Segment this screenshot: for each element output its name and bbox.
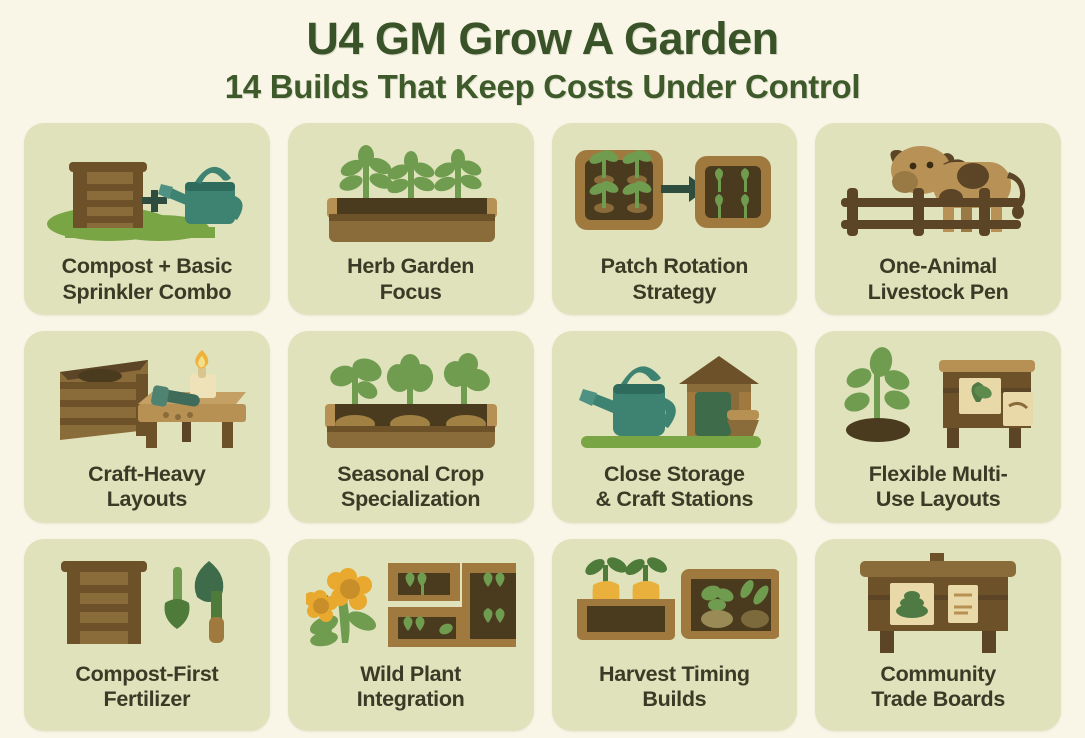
card-wild-plant-integration[interactable]: Wild Plant Integration	[288, 539, 534, 731]
card-craft-heavy-layouts[interactable]: Craft-Heavy Layouts	[24, 331, 270, 523]
card-label: Craft-Heavy Layouts	[88, 462, 205, 513]
compost-bin-trowels-icon	[32, 551, 262, 655]
card-one-animal-livestock-pen[interactable]: One-Animal Livestock Pen	[815, 123, 1061, 315]
card-label: Patch Rotation Strategy	[601, 254, 749, 305]
card-label: Harvest Timing Builds	[599, 662, 750, 713]
card-community-trade-boards[interactable]: Community Trade Boards	[815, 539, 1061, 731]
planter-box-herbs-icon	[296, 135, 526, 247]
build-cards-grid: Compost + Basic Sprinkler Combo	[24, 123, 1061, 738]
planter-box-seedlings-icon	[296, 343, 526, 455]
watering-can-shed-icon	[560, 343, 790, 455]
plant-noticeboard-icon	[823, 343, 1053, 455]
card-compost-sprinkler-combo[interactable]: Compost + Basic Sprinkler Combo	[24, 123, 270, 315]
card-label: Herb Garden Focus	[347, 254, 474, 305]
compost-bin-watering-can-icon	[32, 135, 262, 247]
card-label: Compost + Basic Sprinkler Combo	[62, 254, 233, 305]
page-subtitle: 14 Builds That Keep Costs Under Control	[0, 68, 1085, 106]
card-harvest-timing-builds[interactable]: Harvest Timing Builds	[552, 539, 798, 731]
card-close-storage-craft-stations[interactable]: Close Storage & Craft Stations	[552, 331, 798, 523]
card-flexible-multi-use-layouts[interactable]: Flexible Multi- Use Layouts	[815, 331, 1061, 523]
card-label: Compost-First Fertilizer	[75, 662, 218, 713]
card-seasonal-crop-specialization[interactable]: Seasonal Crop Specialization	[288, 331, 534, 523]
card-label: Flexible Multi- Use Layouts	[869, 462, 1008, 513]
card-label: Community Trade Boards	[871, 662, 1005, 713]
flowers-patches-icon	[296, 551, 526, 655]
card-label: Close Storage & Craft Stations	[596, 462, 754, 513]
card-patch-rotation-strategy[interactable]: Patch Rotation Strategy	[552, 123, 798, 315]
two-patches-arrow-icon	[560, 135, 790, 247]
page-header: U4 GM Grow A Garden 14 Builds That Keep …	[0, 0, 1085, 106]
page-title: U4 GM Grow A Garden	[0, 14, 1085, 64]
card-label: Wild Plant Integration	[357, 662, 465, 713]
card-label: Seasonal Crop Specialization	[337, 462, 484, 513]
infographic-page: U4 GM Grow A Garden 14 Builds That Keep …	[0, 0, 1085, 738]
trade-board-icon	[823, 551, 1053, 655]
card-herb-garden-focus[interactable]: Herb Garden Focus	[288, 123, 534, 315]
card-label: One-Animal Livestock Pen	[868, 254, 1009, 305]
cow-fence-icon	[823, 135, 1053, 247]
crate-workbench-candle-icon	[32, 343, 262, 455]
carrots-harvest-plot-icon	[560, 551, 790, 655]
card-compost-first-fertilizer[interactable]: Compost-First Fertilizer	[24, 539, 270, 731]
